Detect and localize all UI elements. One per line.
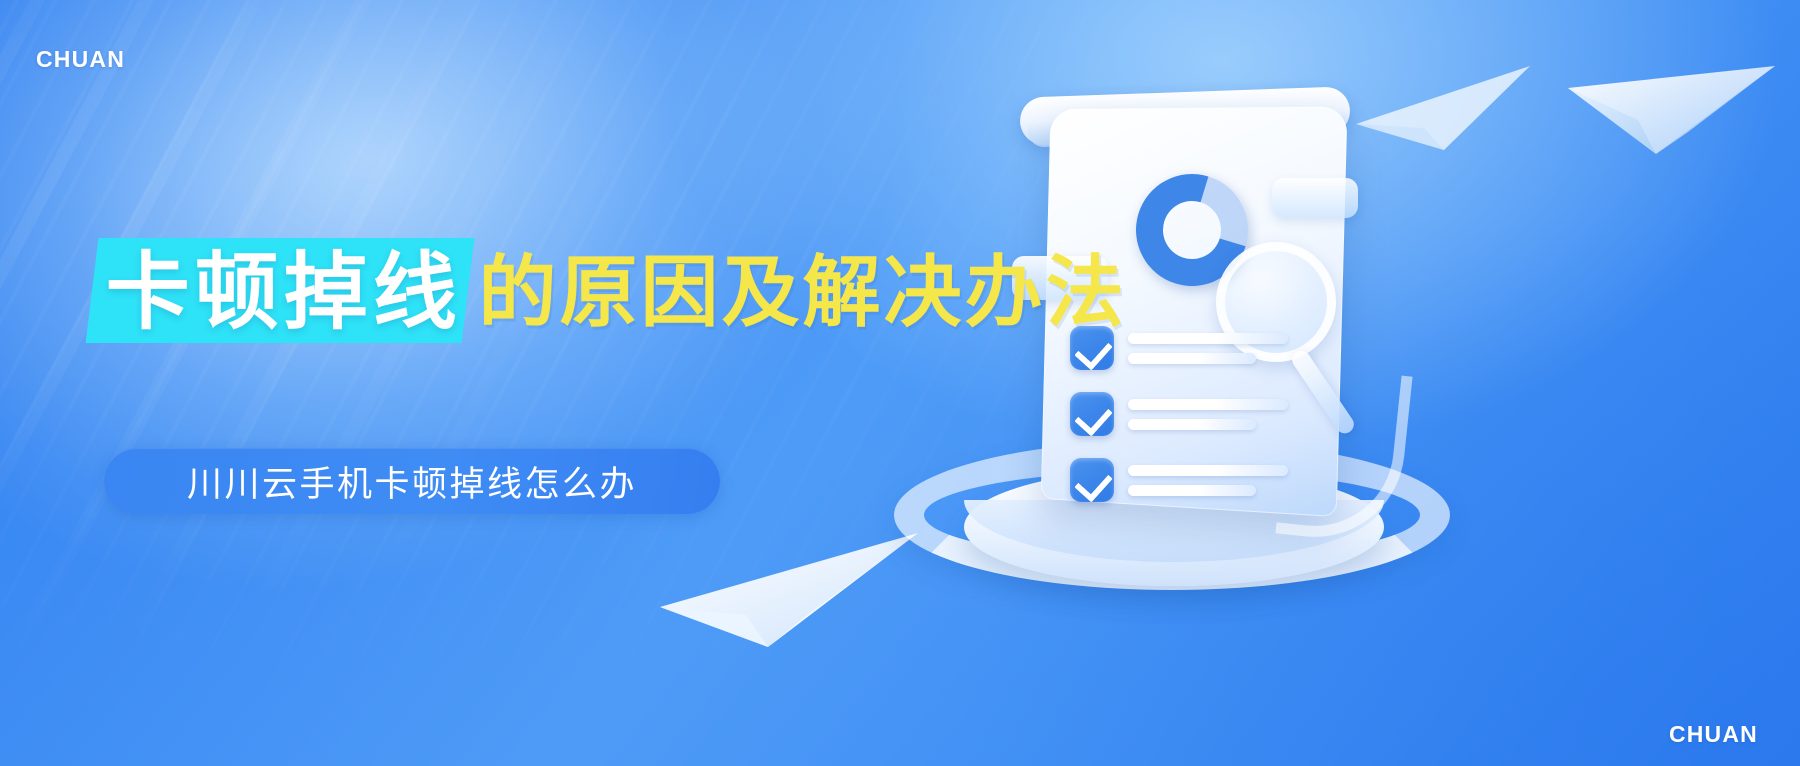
watermark-top-left: CHUAN [36,46,125,73]
subtitle-pill[interactable]: 川川云手机卡顿掉线怎么办 [104,448,720,514]
headline-highlight-text: 卡顿掉线 [106,248,462,337]
watermark-bottom-right: CHUAN [1669,721,1758,748]
hero-illustration [880,70,1500,630]
document-tab-right [1272,178,1358,218]
checklist-line [1128,465,1288,476]
checklist-item [1070,458,1288,502]
checklist-line [1128,399,1288,410]
checklist-lines [1128,399,1288,430]
checkbox-checked-icon [1070,392,1114,436]
paper-plane-icon [1560,58,1790,168]
headline-rest: 的原因及解决办法 [462,252,1131,343]
checkbox-checked-icon [1070,458,1114,502]
promo-banner: 卡顿掉线 的原因及解决办法 川川云手机卡顿掉线怎么办 CHUAN CHUAN [0,0,1800,766]
checklist-line [1128,353,1256,364]
checklist-line [1128,485,1256,496]
checklist-item [1070,392,1288,436]
headline-highlight: 卡顿掉线 [86,238,475,343]
checklist-lines [1128,465,1288,496]
checklist-lines [1128,333,1288,364]
checklist-line [1128,333,1288,344]
subtitle-text: 川川云手机卡顿掉线怎么办 [187,456,637,507]
headline: 卡顿掉线 的原因及解决办法 [92,238,1126,343]
checklist-line [1128,419,1256,430]
headline-rest-text: 的原因及解决办法 [479,252,1127,335]
